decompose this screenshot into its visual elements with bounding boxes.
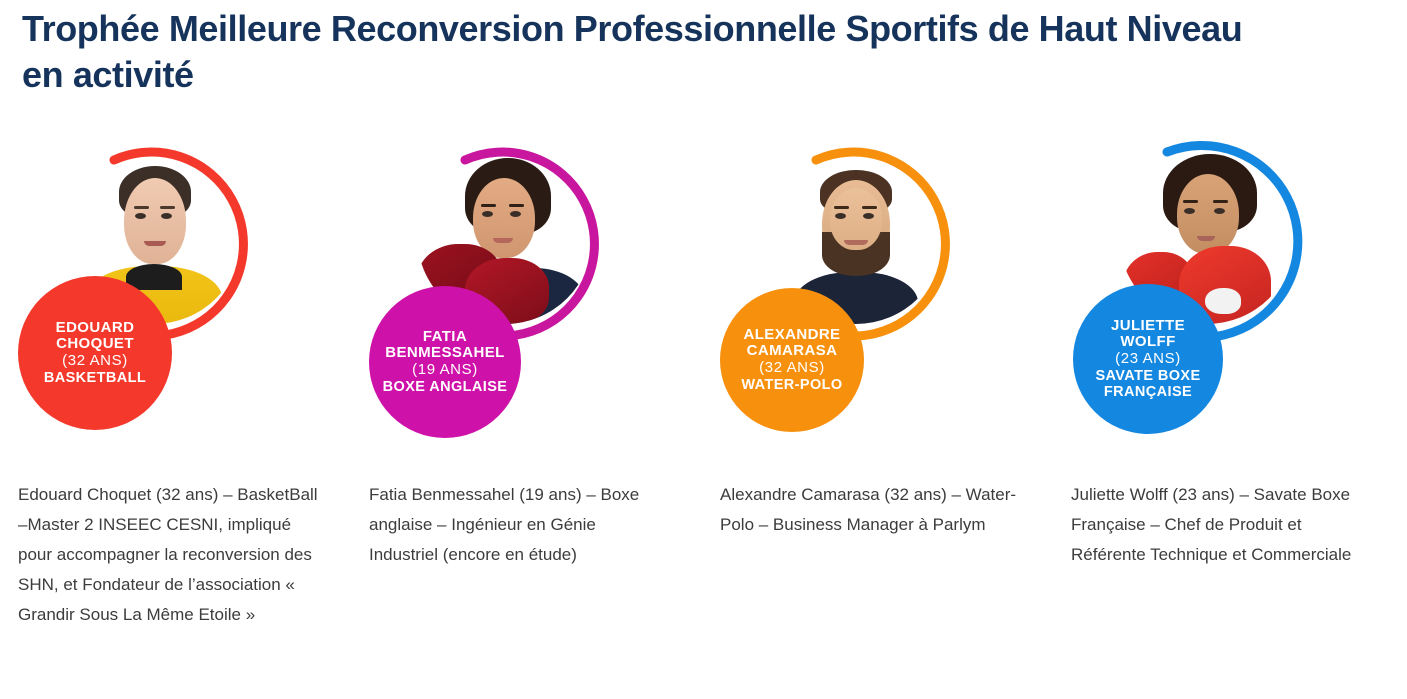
profiles-grid: EDOUARD CHOQUET (32 ANS) BASKETBALL Edou… bbox=[0, 126, 1407, 436]
portrait-4: JULIETTE WOLFF (23 ANS) SAVATE BOXE FRAN… bbox=[1071, 126, 1371, 436]
badge-sport: WATER-POLO bbox=[741, 377, 842, 393]
caption-wrap-2: Fatia Benmessahel (19 ans) – Boxe anglai… bbox=[369, 480, 669, 570]
portrait-2: FATIA BENMESSAHEL (19 ANS) BOXE ANGLAISE bbox=[369, 126, 669, 436]
portrait-3: ALEXANDRE CAMARASA (32 ANS) WATER-POLO bbox=[720, 126, 1020, 436]
badge-age: (19 ANS) bbox=[412, 362, 478, 379]
badge-name-line1: JULIETTE bbox=[1111, 318, 1185, 335]
badge-name-line2: WOLFF bbox=[1120, 334, 1175, 351]
badge-name-line2: CAMARASA bbox=[747, 343, 838, 360]
profile-badge-2: FATIA BENMESSAHEL (19 ANS) BOXE ANGLAISE bbox=[369, 286, 521, 438]
profile-caption-4: Juliette Wolff (23 ans) – Savate Boxe Fr… bbox=[1071, 480, 1371, 570]
profile-caption-2: Fatia Benmessahel (19 ans) – Boxe anglai… bbox=[369, 480, 669, 570]
page-title: Trophée Meilleure Reconversion Professio… bbox=[22, 6, 1292, 98]
profile-badge-1: EDOUARD CHOQUET (32 ANS) BASKETBALL bbox=[18, 276, 172, 430]
portrait-1: EDOUARD CHOQUET (32 ANS) BASKETBALL bbox=[18, 126, 318, 436]
caption-wrap-1: Edouard Choquet (32 ans) – BasketBall –M… bbox=[18, 480, 318, 630]
profile-card-4: JULIETTE WOLFF (23 ANS) SAVATE BOXE FRAN… bbox=[1053, 126, 1404, 436]
profile-badge-4: JULIETTE WOLFF (23 ANS) SAVATE BOXE FRAN… bbox=[1073, 284, 1223, 434]
badge-name-line2: BENMESSAHEL bbox=[385, 345, 504, 362]
badge-name-line1: EDOUARD bbox=[56, 320, 135, 337]
page-root: Trophée Meilleure Reconversion Professio… bbox=[0, 0, 1407, 699]
badge-sport: BOXE ANGLAISE bbox=[383, 379, 508, 395]
badge-sport-line2: FRANÇAISE bbox=[1104, 384, 1192, 400]
profile-caption-3: Alexandre Camarasa (32 ans) – Water-Polo… bbox=[720, 480, 1020, 540]
profile-badge-3: ALEXANDRE CAMARASA (32 ANS) WATER-POLO bbox=[720, 288, 864, 432]
badge-sport-line1: SAVATE BOXE bbox=[1095, 368, 1200, 384]
badge-sport: BASKETBALL bbox=[44, 370, 146, 386]
badge-name-line1: FATIA bbox=[423, 329, 467, 346]
profile-card-1: EDOUARD CHOQUET (32 ANS) BASKETBALL Edou… bbox=[0, 126, 351, 436]
profile-card-2: FATIA BENMESSAHEL (19 ANS) BOXE ANGLAISE… bbox=[351, 126, 702, 436]
badge-age: (32 ANS) bbox=[759, 360, 825, 377]
badge-age: (32 ANS) bbox=[62, 353, 128, 370]
badge-age: (23 ANS) bbox=[1115, 351, 1181, 368]
profile-card-3: ALEXANDRE CAMARASA (32 ANS) WATER-POLO A… bbox=[702, 126, 1053, 436]
profile-caption-1: Edouard Choquet (32 ans) – BasketBall –M… bbox=[18, 480, 318, 630]
badge-name-line2: CHOQUET bbox=[56, 336, 134, 353]
caption-wrap-4: Juliette Wolff (23 ans) – Savate Boxe Fr… bbox=[1071, 480, 1371, 570]
badge-name-line1: ALEXANDRE bbox=[744, 327, 841, 344]
caption-wrap-3: Alexandre Camarasa (32 ans) – Water-Polo… bbox=[720, 480, 1020, 540]
